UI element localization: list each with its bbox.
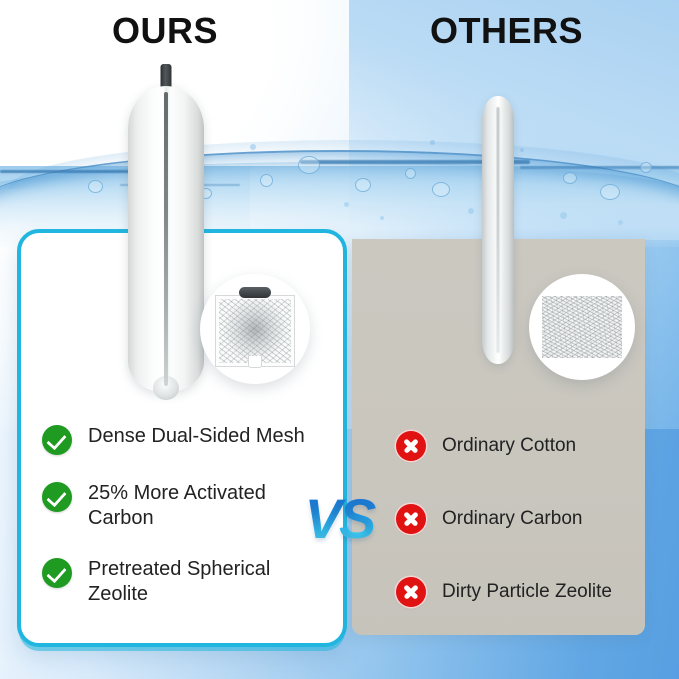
list-item: Dirty Particle Zeolite: [396, 576, 656, 607]
list-item: Ordinary Carbon: [396, 503, 656, 534]
bubble: [600, 184, 620, 200]
ordinary-cotton-texture: [542, 296, 622, 358]
water-droplet: [560, 212, 567, 219]
list-item-label: Ordinary Carbon: [442, 506, 582, 531]
water-spray: [430, 140, 435, 145]
vs-label: VS: [293, 486, 385, 551]
bubble: [355, 178, 371, 192]
others-closeup-circle: [529, 274, 635, 380]
others-feature-list: Ordinary Cotton Ordinary Carbon Dirty Pa…: [396, 430, 656, 649]
ours-closeup-circle: [200, 274, 310, 384]
cross-icon: [396, 504, 426, 534]
ours-filter-pad-tip: [153, 376, 179, 400]
ours-feature-list: Dense Dual-Sided Mesh 25% More Activated…: [42, 424, 332, 633]
bubble: [432, 182, 450, 197]
ours-heading: OURS: [112, 10, 218, 52]
cartridge-notch: [248, 356, 262, 368]
water-droplet: [618, 220, 623, 225]
others-product-image: [472, 96, 528, 364]
others-heading: OTHERS: [430, 10, 583, 52]
bubble: [298, 156, 320, 174]
bubble: [88, 180, 103, 193]
filter-cartridge: [215, 295, 295, 367]
ours-filter-pad: [128, 86, 204, 392]
list-item: Ordinary Cotton: [396, 430, 656, 461]
cartridge-handle-icon: [239, 287, 271, 298]
list-item: 25% More Activated Carbon: [42, 481, 332, 531]
ours-product-image: [118, 64, 214, 394]
bubble: [563, 172, 577, 184]
others-filter-pad: [482, 96, 514, 364]
bubble: [405, 168, 416, 179]
cartridge-mesh-texture: [219, 299, 291, 363]
check-icon: [42, 558, 72, 588]
cross-icon: [396, 431, 426, 461]
vs-badge: VS: [293, 484, 385, 570]
list-item-label: Dirty Particle Zeolite: [442, 579, 612, 604]
bubble: [260, 174, 273, 187]
list-item: Dense Dual-Sided Mesh: [42, 424, 332, 455]
list-item: Pretreated Spherical Zeolite: [42, 557, 332, 607]
list-item-label: Dense Dual-Sided Mesh: [88, 424, 305, 449]
comparison-infographic: OURS OTHERS Dense Dual-Sided Mesh 25% Mo…: [0, 0, 679, 679]
water-droplet: [380, 216, 384, 220]
bubble: [640, 162, 652, 173]
list-item-label: Ordinary Cotton: [442, 433, 576, 458]
check-icon: [42, 482, 72, 512]
wave-crest: [520, 166, 679, 169]
cross-icon: [396, 577, 426, 607]
water-droplet: [344, 202, 349, 207]
water-spray: [250, 144, 256, 150]
check-icon: [42, 425, 72, 455]
